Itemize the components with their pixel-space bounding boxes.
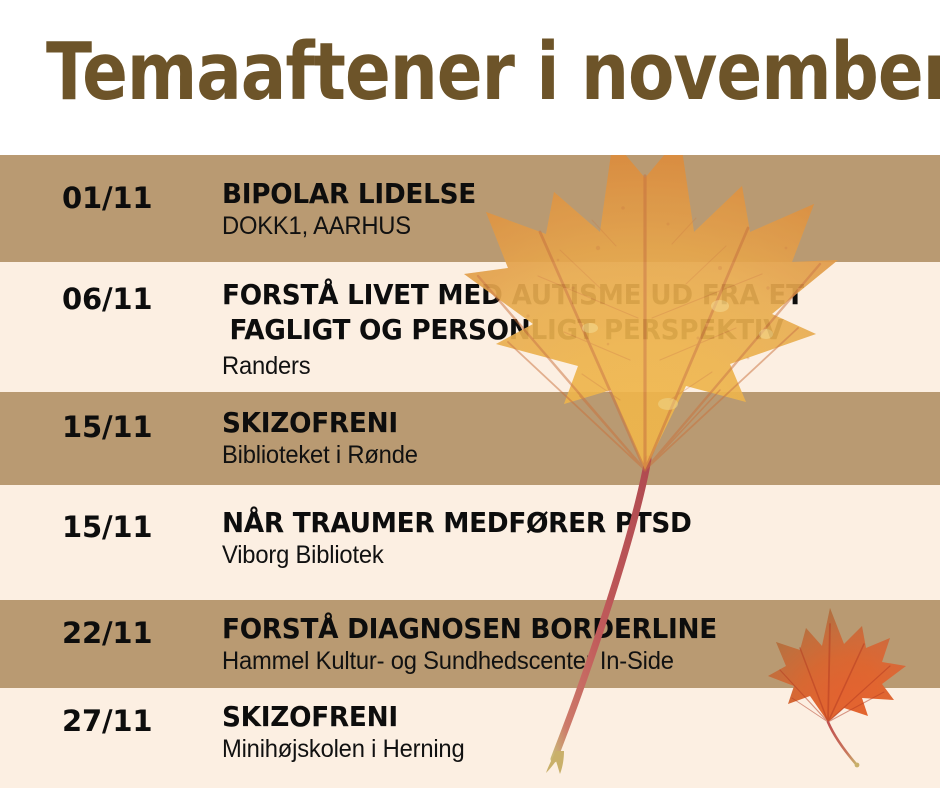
event-title: BIPOLAR LIDELSE <box>222 176 889 211</box>
event-venue: Viborg Bibliotek <box>222 540 897 571</box>
event-venue: Randers <box>222 351 897 382</box>
event-body: BIPOLAR LIDELSE DOKK1, AARHUS <box>222 176 932 242</box>
event-date: 01/11 <box>62 183 152 213</box>
event-date: 27/11 <box>62 706 152 736</box>
event-venue: Biblioteket i Rønde <box>222 440 897 471</box>
event-venue: Hammel Kultur- og Sundhedscenter In-Side <box>222 646 897 677</box>
event-body: SKIZOFRENI Biblioteket i Rønde <box>222 405 932 471</box>
event-title-line1: FORSTÅ LIVET MED AUTISME UD FRA ET <box>222 278 804 311</box>
page-title: Temaaftener i november <box>46 26 940 118</box>
event-date: 15/11 <box>62 512 152 542</box>
event-body: NÅR TRAUMER MEDFØRER PTSD Viborg Bibliot… <box>222 505 932 571</box>
event-row: 27/11 SKIZOFRENI Minihøjskolen i Herning <box>0 688 940 788</box>
poster-header: Temaaftener i november <box>0 0 940 155</box>
poster-canvas: 01/11 BIPOLAR LIDELSE DOKK1, AARHUS 06/1… <box>0 0 940 788</box>
event-title: SKIZOFRENI <box>222 699 889 734</box>
event-row: 15/11 SKIZOFRENI Biblioteket i Rønde <box>0 392 940 485</box>
event-date: 15/11 <box>62 412 152 442</box>
event-title: FORSTÅ DIAGNOSEN BORDERLINE <box>222 611 889 646</box>
event-title: FORSTÅ LIVET MED AUTISME UD FRA ET FAGLI… <box>222 277 889 347</box>
event-title-line2: FAGLIGT OG PERSONLIGT PERSPEKTIV <box>222 312 889 347</box>
event-title: SKIZOFRENI <box>222 405 889 440</box>
event-body: FORSTÅ LIVET MED AUTISME UD FRA ET FAGLI… <box>222 277 932 382</box>
event-date: 22/11 <box>62 618 152 648</box>
event-date: 06/11 <box>62 284 152 314</box>
event-title: NÅR TRAUMER MEDFØRER PTSD <box>222 505 889 540</box>
event-venue: DOKK1, AARHUS <box>222 211 897 242</box>
event-body: FORSTÅ DIAGNOSEN BORDERLINE Hammel Kultu… <box>222 611 932 677</box>
event-row: 06/11 FORSTÅ LIVET MED AUTISME UD FRA ET… <box>0 262 940 392</box>
event-row: 15/11 NÅR TRAUMER MEDFØRER PTSD Viborg B… <box>0 485 940 600</box>
event-row: 22/11 FORSTÅ DIAGNOSEN BORDERLINE Hammel… <box>0 600 940 688</box>
event-venue: Minihøjskolen i Herning <box>222 734 897 765</box>
event-body: SKIZOFRENI Minihøjskolen i Herning <box>222 699 932 765</box>
event-row: 01/11 BIPOLAR LIDELSE DOKK1, AARHUS <box>0 155 940 262</box>
